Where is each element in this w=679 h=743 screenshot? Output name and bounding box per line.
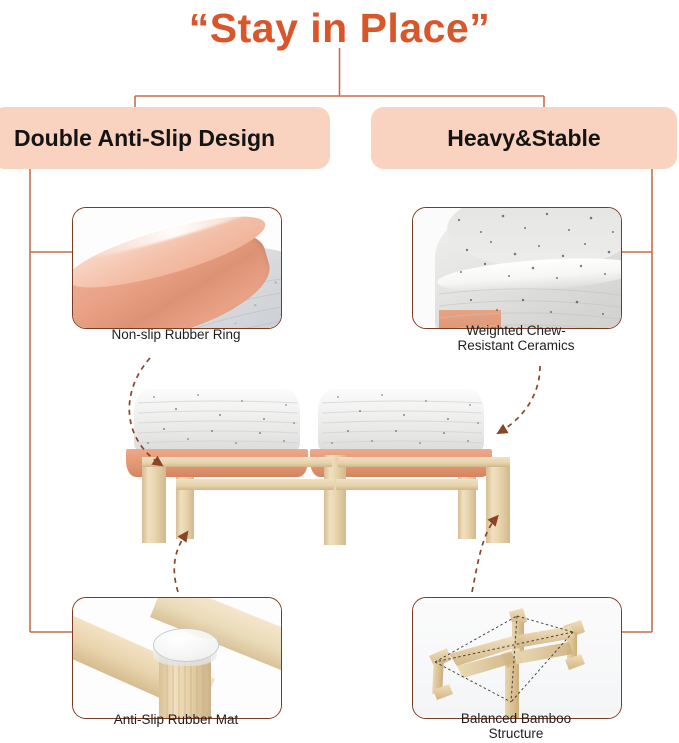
arrow-bamboo-structure-to-product [472,518,496,592]
arrow-rubber-ring-to-product [129,358,160,464]
dashed-pointer-arrows [0,0,679,743]
arrow-rubber-mat-to-product [174,534,186,592]
arrow-ceramics-to-product [500,366,540,432]
infographic-canvas: “Stay in Place” Double Anti-Slip Design … [0,0,679,743]
